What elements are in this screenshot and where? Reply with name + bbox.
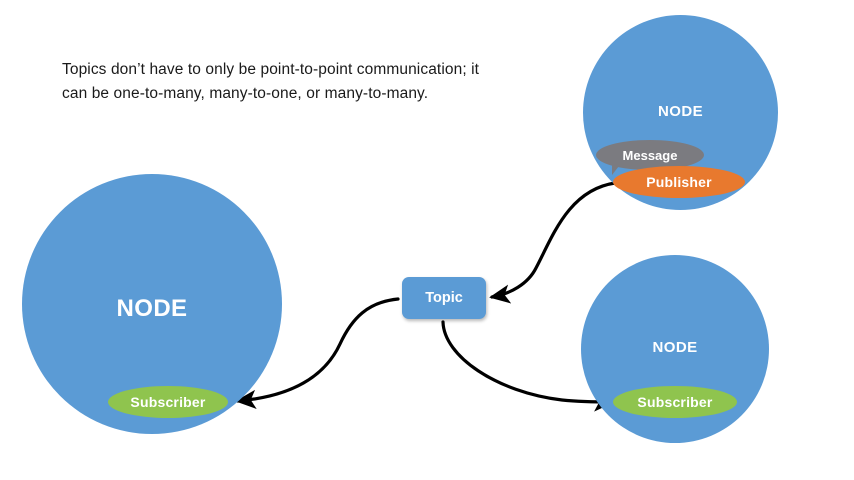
node-top-right-label: NODE xyxy=(583,103,778,120)
topic-box[interactable]: Topic xyxy=(402,277,486,319)
arrow-publisher-to-topic xyxy=(492,183,615,297)
node-bottom-right-label: NODE xyxy=(581,339,769,356)
subscriber-bottom-right[interactable]: Subscriber xyxy=(613,386,737,418)
caption-text: Topics don’t have to only be point-to-po… xyxy=(62,58,482,105)
diagram-canvas: Topics don’t have to only be point-to-po… xyxy=(0,0,854,480)
node-left-label: NODE xyxy=(22,295,282,323)
subscriber-left[interactable]: Subscriber xyxy=(108,386,228,418)
publisher[interactable]: Publisher xyxy=(613,166,745,198)
